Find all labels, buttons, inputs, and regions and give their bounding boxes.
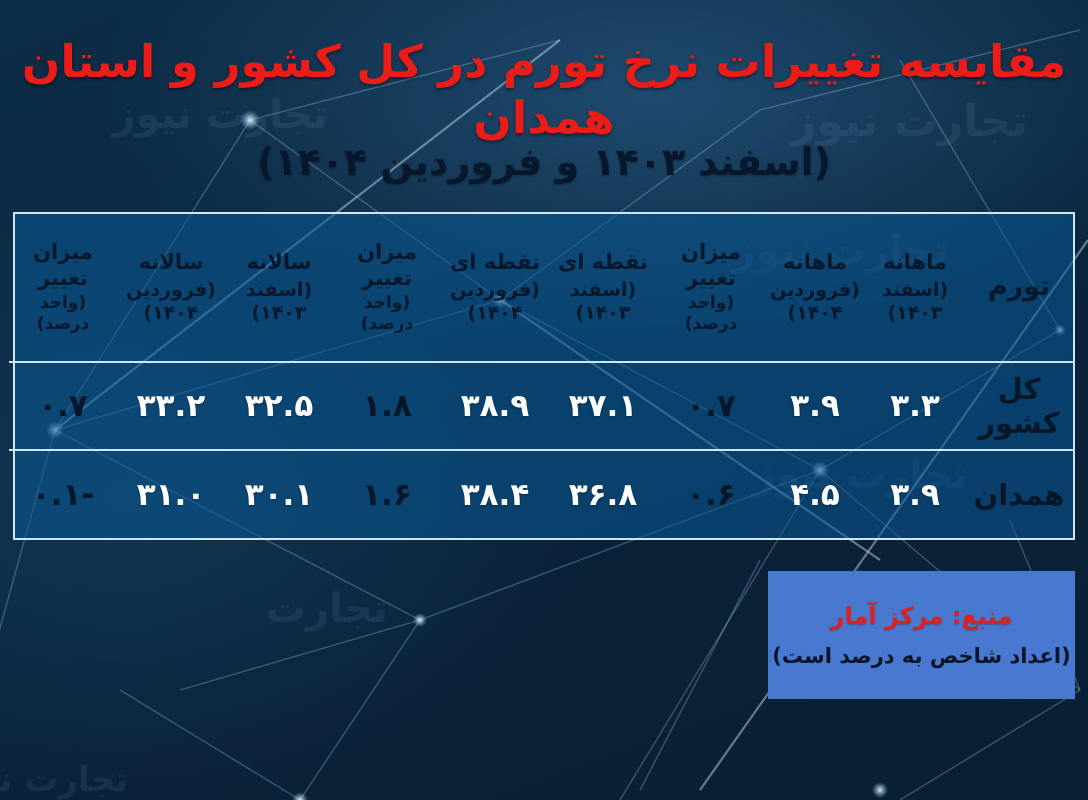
cell-monthly-esfand-1403: ۳.۳ xyxy=(865,362,965,450)
source-note: (اعداد شاخص به درصد است) xyxy=(772,644,1070,668)
cell-annual-esfand-1403: ۳۰.۱ xyxy=(225,450,333,538)
cell-annual-esfand-1403: ۳۲.۵ xyxy=(225,362,333,450)
column-header-annual-farvardin-1404: سالانه (فروردین ۱۴۰۴) xyxy=(117,214,225,362)
source-label: منبع: مرکز آمار xyxy=(831,602,1013,630)
table-header-row: تورم ماهانه (اسفند ۱۴۰۳) ماهانه (فروردین… xyxy=(9,214,1073,362)
column-header-monthly-change: میزان تغییر (واحد درصد) xyxy=(657,214,765,362)
cell-annual-farvardin-1404: ۳۱.۰ xyxy=(117,450,225,538)
column-header-monthly-esfand-1403: ماهانه (اسفند ۱۴۰۳) xyxy=(865,214,965,362)
table-row: همدان ۳.۹ ۴.۵ ۰.۶ ۳۶.۸ ۳۸.۴ ۱.۶ ۳۰.۱ ۳۱.… xyxy=(9,450,1073,538)
watermark-text: تجارت xyxy=(266,586,388,632)
column-header-point-change: میزان تغییر (واحد درصد) xyxy=(333,214,441,362)
cell-monthly-esfand-1403: ۳.۹ xyxy=(865,450,965,538)
cell-annual-change: ۰.۷ xyxy=(9,362,117,450)
inflation-table: تورم ماهانه (اسفند ۱۴۰۳) ماهانه (فروردین… xyxy=(9,214,1073,538)
table-row: کل کشور ۳.۳ ۳.۹ ۰.۷ ۳۷.۱ ۳۸.۹ ۱.۸ ۳۲.۵ ۳… xyxy=(9,362,1073,450)
source-box: منبع: مرکز آمار (اعداد شاخص به درصد است) xyxy=(768,571,1075,699)
column-header-monthly-farvardin-1404: ماهانه (فروردین ۱۴۰۴) xyxy=(765,214,865,362)
cell-point-farvardin-1404: ۳۸.۹ xyxy=(441,362,549,450)
cell-point-esfand-1403: ۳۶.۸ xyxy=(549,450,657,538)
watermark-text: تجارت نیوز xyxy=(0,760,128,800)
column-header-point-esfand-1403: نقطه ای (اسفند ۱۴۰۳) xyxy=(549,214,657,362)
cell-monthly-change: ۰.۶ xyxy=(657,450,765,538)
row-label-country: کل کشور xyxy=(965,362,1073,450)
row-label-hamedan: همدان xyxy=(965,450,1073,538)
cell-annual-change: -۰.۱ xyxy=(9,450,117,538)
cell-point-esfand-1403: ۳۷.۱ xyxy=(549,362,657,450)
column-header-torm: تورم xyxy=(965,214,1073,362)
table-body: کل کشور ۳.۳ ۳.۹ ۰.۷ ۳۷.۱ ۳۸.۹ ۱.۸ ۳۲.۵ ۳… xyxy=(9,362,1073,538)
cell-monthly-farvardin-1404: ۴.۵ xyxy=(765,450,865,538)
cell-point-change: ۱.۶ xyxy=(333,450,441,538)
page-title: مقایسه تغییرات نرخ تورم در کل کشور و است… xyxy=(0,34,1088,147)
cell-point-change: ۱.۸ xyxy=(333,362,441,450)
cell-monthly-change: ۰.۷ xyxy=(657,362,765,450)
table-header: تورم ماهانه (اسفند ۱۴۰۳) ماهانه (فروردین… xyxy=(9,214,1073,362)
inflation-table-container: تورم ماهانه (اسفند ۱۴۰۳) ماهانه (فروردین… xyxy=(13,212,1075,540)
column-header-annual-change: میزان تغییر (واحد درصد) xyxy=(9,214,117,362)
column-header-point-farvardin-1404: نقطه ای (فروردین ۱۴۰۴) xyxy=(441,214,549,362)
cell-annual-farvardin-1404: ۳۳.۲ xyxy=(117,362,225,450)
column-header-annual-esfand-1403: سالانه (اسفند ۱۴۰۳) xyxy=(225,214,333,362)
page-subtitle: (اسفند ۱۴۰۳ و فروردین ۱۴۰۴) xyxy=(0,140,1088,184)
cell-point-farvardin-1404: ۳۸.۴ xyxy=(441,450,549,538)
cell-monthly-farvardin-1404: ۳.۹ xyxy=(765,362,865,450)
